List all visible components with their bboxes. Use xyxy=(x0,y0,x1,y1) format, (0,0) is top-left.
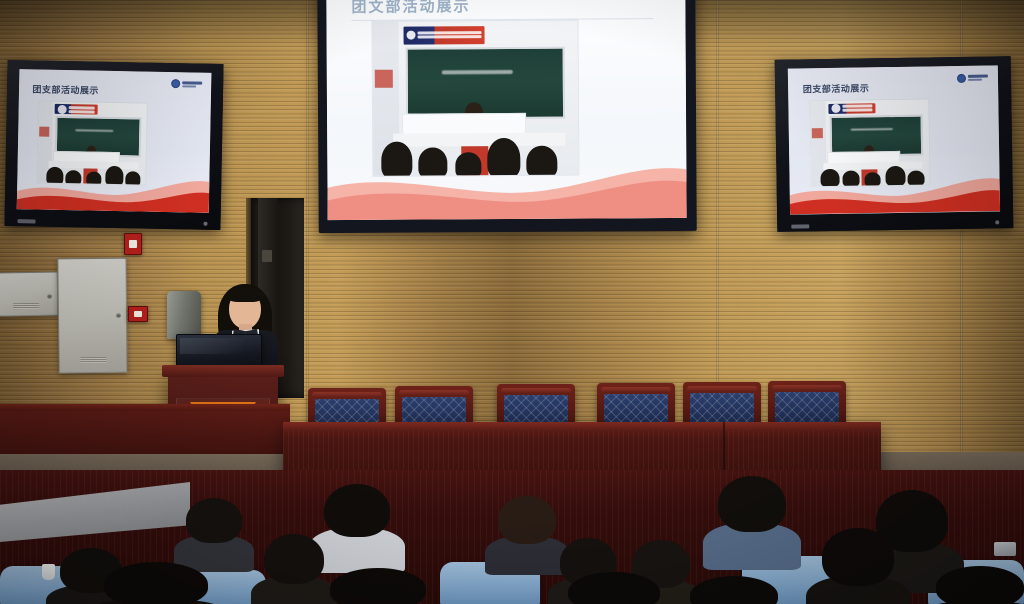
wordmark-line-1 xyxy=(182,81,202,84)
wordmark-line-1 xyxy=(967,75,987,78)
chair-top-rail xyxy=(501,388,571,394)
person-head xyxy=(568,572,660,604)
tv-brand-label-right xyxy=(791,224,809,228)
slide-photo-redstrip xyxy=(375,69,394,88)
person-head xyxy=(186,498,242,543)
audience-member xyxy=(324,484,390,558)
wordmark-line-2 xyxy=(968,79,982,81)
panel-vent-icon xyxy=(80,357,106,363)
tv-screen-right: 团支部活动展示 xyxy=(788,66,1000,215)
alarm-lens-icon xyxy=(129,240,136,248)
panel-latch-icon xyxy=(116,313,121,318)
banner-text-lines xyxy=(840,105,875,113)
fire-alarm-strobe-icon xyxy=(124,233,142,255)
lecture-hall-photo: 团支部活动展示 xyxy=(0,0,1024,604)
chair-top-rail xyxy=(312,392,382,398)
photo-banner-right xyxy=(828,103,875,114)
tv-slide-waves-left xyxy=(17,167,210,213)
main-projection-screen[interactable]: 团文部活动展示 xyxy=(317,0,697,233)
projection-surface: 团文部活动展示 xyxy=(326,0,686,220)
slide-photo-banner xyxy=(403,26,485,45)
photo-banner-left xyxy=(55,104,98,115)
university-logo-icon xyxy=(171,79,202,89)
university-logo-icon xyxy=(956,73,987,82)
person-head xyxy=(264,534,324,584)
chair-upholstery xyxy=(775,392,839,423)
electrical-panel-small[interactable] xyxy=(0,271,58,316)
chair-upholstery xyxy=(690,393,754,424)
person-head xyxy=(690,576,778,604)
banner-emblem-icon xyxy=(406,31,415,40)
person-head xyxy=(936,566,1024,604)
chair-top-rail xyxy=(601,387,671,393)
monitor-screen-glare xyxy=(180,338,244,354)
fire-alarm-pull-station-icon[interactable] xyxy=(128,306,148,322)
presentation-slide: 团文部活动展示 xyxy=(326,0,686,220)
audience-member xyxy=(186,498,242,560)
banner-text-lines xyxy=(67,106,98,114)
university-seal-icon xyxy=(171,79,180,88)
university-wordmark xyxy=(182,81,202,87)
slide-title: 团文部活动展示 xyxy=(351,0,470,17)
chair-top-rail xyxy=(399,390,469,396)
right-display-monitor[interactable]: 团支部活动展示 xyxy=(775,56,1014,232)
presenter-fringe xyxy=(227,287,263,302)
chair-upholstery xyxy=(604,394,668,425)
chair-top-rail xyxy=(687,386,757,392)
audience-member xyxy=(822,528,894,604)
tv-ir-sensor-right xyxy=(995,220,999,224)
slide-photo-chalk-text xyxy=(442,69,514,74)
audience-member xyxy=(718,476,786,554)
photo-chalk-text-left xyxy=(76,129,114,132)
wordmark-line-2 xyxy=(182,85,196,87)
photo-redstrip-left xyxy=(39,127,49,137)
chair-top-rail xyxy=(772,385,842,391)
university-wordmark xyxy=(967,75,987,81)
tv-slide-right: 团支部活动展示 xyxy=(788,66,1000,215)
audience-member xyxy=(568,572,660,604)
electrical-panel-large[interactable] xyxy=(57,258,127,374)
tv-slide-title-left: 团支部活动展示 xyxy=(32,82,99,96)
side-table-left xyxy=(0,404,290,454)
alarm-lens-icon xyxy=(134,311,142,317)
tv-slide-title-right: 团支部活动展示 xyxy=(803,81,870,95)
table-edge xyxy=(283,422,881,431)
panel-vent-icon xyxy=(13,303,39,309)
panel-latch-icon xyxy=(47,294,52,299)
audience-member xyxy=(936,566,1024,604)
paper-cup xyxy=(42,564,55,580)
handheld-device xyxy=(994,542,1016,556)
audience-member xyxy=(330,568,426,604)
water-dispenser xyxy=(167,291,201,339)
tv-ir-sensor-left xyxy=(204,222,208,226)
tv-screen-left: 团支部活动展示 xyxy=(17,69,212,213)
person-head xyxy=(104,562,208,604)
left-display-monitor[interactable]: 团支部活动展示 xyxy=(4,60,223,230)
slide-photo-deskrow xyxy=(393,133,565,146)
podium-top-surface xyxy=(162,365,284,377)
person-head xyxy=(498,496,556,544)
photo-redstrip-right xyxy=(812,128,823,138)
banner-text-lines xyxy=(415,32,485,39)
banner-emblem-icon xyxy=(58,105,67,114)
tv-slide-waves-right xyxy=(789,168,1000,215)
university-seal-icon xyxy=(956,74,965,83)
tv-brand-label-left xyxy=(17,219,35,223)
person-head xyxy=(822,528,894,586)
tv-slide-left: 团支部活动展示 xyxy=(17,69,212,213)
person-head xyxy=(324,484,390,537)
audience-member xyxy=(104,562,208,604)
audience-member xyxy=(264,534,324,604)
table-edge xyxy=(0,404,290,411)
door-hinge-upper-icon xyxy=(262,250,272,262)
audience-member xyxy=(690,576,778,604)
person-head xyxy=(330,568,426,604)
audience-member xyxy=(498,496,556,562)
banner-emblem-icon xyxy=(831,104,840,113)
person-head xyxy=(718,476,786,532)
slide-wave-decoration xyxy=(327,146,686,221)
photo-chalk-text-right xyxy=(851,128,892,131)
